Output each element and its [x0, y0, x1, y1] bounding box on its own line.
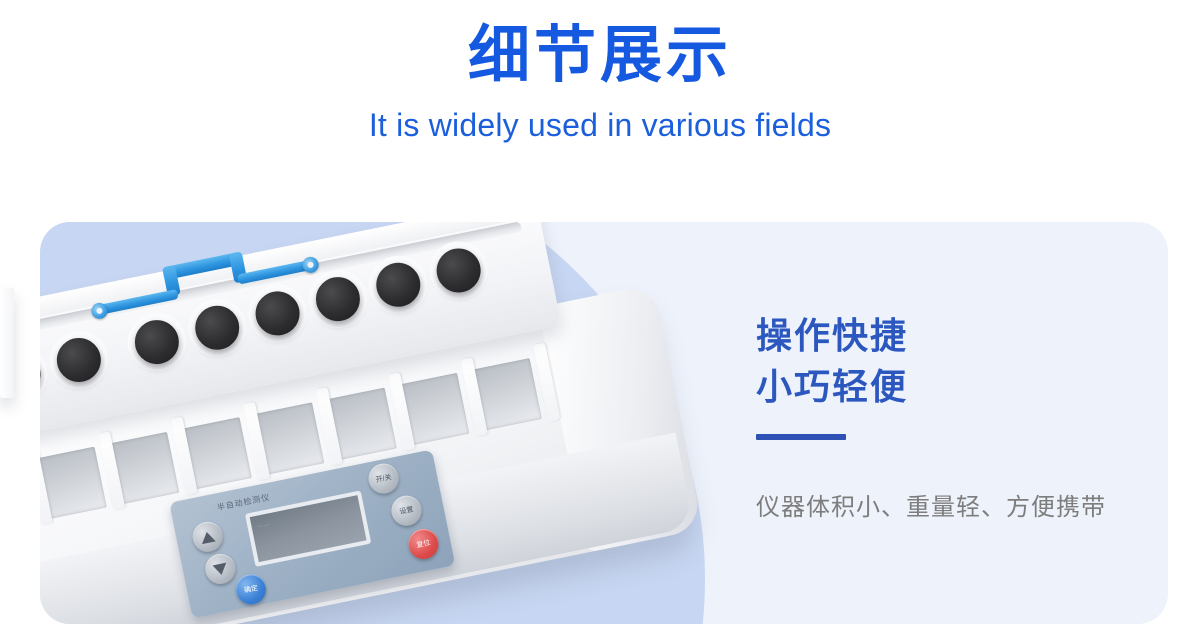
page-title: 细节展示: [0, 22, 1200, 90]
power-button[interactable]: 开/关: [366, 461, 401, 496]
arrow-down-button[interactable]: [203, 551, 238, 586]
arrow-up-icon: [200, 530, 216, 544]
reset-button[interactable]: 复位: [406, 526, 441, 561]
setting-button[interactable]: 设置: [389, 493, 424, 528]
arrow-up-button[interactable]: [190, 519, 225, 554]
promo-page: 细节展示 It is widely used in various fields: [0, 0, 1200, 641]
header: 细节展示 It is widely used in various fields: [0, 0, 1200, 145]
feature-description: 仪器体积小、重量轻、方便携带: [756, 490, 1106, 526]
device-overflow-sliver: [0, 288, 14, 398]
device-illustration: 半自动检测仪 ---- 确定 开/关 设置 复位: [40, 222, 729, 624]
page-subtitle: It is widely used in various fields: [0, 106, 1200, 144]
copy-column: 操作快捷 小巧轻便 仪器体积小、重量轻、方便携带: [716, 222, 1168, 624]
confirm-button[interactable]: 确定: [233, 572, 268, 607]
feature-heading: 操作快捷 小巧轻便: [756, 310, 908, 412]
device-photo: 半自动检测仪 ---- 确定 开/关 设置 复位: [40, 222, 718, 624]
heading-divider: [756, 434, 846, 440]
sample-slot: [40, 447, 107, 519]
arrow-down-icon: [212, 562, 228, 576]
lcd-text: ----: [257, 521, 271, 531]
feature-card: 半自动检测仪 ---- 确定 开/关 设置 复位: [40, 222, 1168, 624]
